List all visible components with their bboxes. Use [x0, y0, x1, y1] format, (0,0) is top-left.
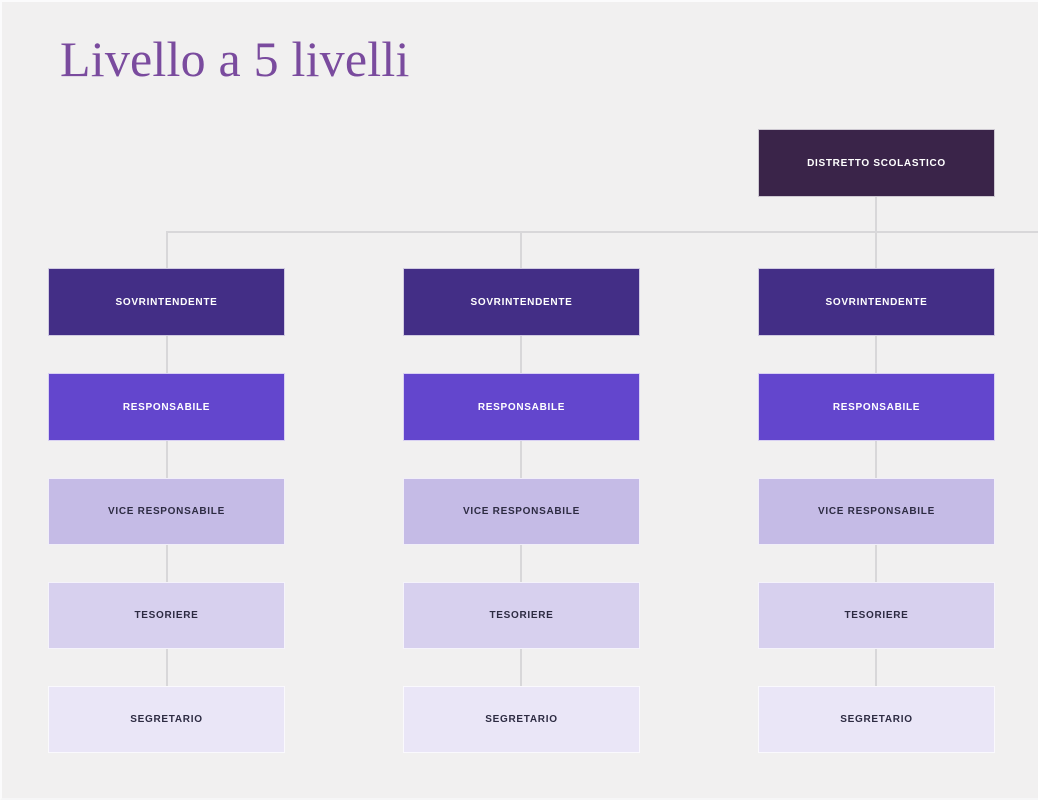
page-title: Livello a 5 livelli [60, 29, 410, 89]
connector-link-b2-l4-l5 [520, 649, 522, 686]
connector-link-b3-l1-l2 [875, 336, 877, 373]
connector-link-b3-l2-l3 [875, 441, 877, 478]
connector-link-b1-l4-l5 [166, 649, 168, 686]
org-node-root[interactable]: DISTRETTO SCOLASTICO [758, 129, 995, 197]
slide-canvas: Livello a 5 livelli DISTRETTO SCOLASTICO… [0, 0, 1038, 800]
connector-link-b3-l3-l4 [875, 545, 877, 582]
org-node-b1-tesoriere[interactable]: TESORIERE [48, 582, 285, 649]
connector-link-b1-l2-l3 [166, 441, 168, 478]
org-node-b3-responsabile[interactable]: RESPONSABILE [758, 373, 995, 441]
connector-drop-branch-3 [875, 231, 877, 268]
connector-link-b2-l3-l4 [520, 545, 522, 582]
org-node-b1-segretario[interactable]: SEGRETARIO [48, 686, 285, 753]
connector-horizontal-bus [166, 231, 1038, 233]
connector-link-b2-l1-l2 [520, 336, 522, 373]
connector-drop-branch-1 [166, 231, 168, 268]
org-node-b2-tesoriere[interactable]: TESORIERE [403, 582, 640, 649]
org-node-b2-vice-responsabile[interactable]: VICE RESPONSABILE [403, 478, 640, 545]
org-node-b2-responsabile[interactable]: RESPONSABILE [403, 373, 640, 441]
org-node-b3-tesoriere[interactable]: TESORIERE [758, 582, 995, 649]
org-node-b3-segretario[interactable]: SEGRETARIO [758, 686, 995, 753]
connector-root-stem [875, 197, 877, 232]
org-node-b2-sovrintendente[interactable]: SOVRINTENDENTE [403, 268, 640, 336]
connector-link-b3-l4-l5 [875, 649, 877, 686]
connector-link-b2-l2-l3 [520, 441, 522, 478]
connector-link-b1-l1-l2 [166, 336, 168, 373]
connector-link-b1-l3-l4 [166, 545, 168, 582]
org-node-b1-vice-responsabile[interactable]: VICE RESPONSABILE [48, 478, 285, 545]
org-node-b1-sovrintendente[interactable]: SOVRINTENDENTE [48, 268, 285, 336]
org-node-b3-vice-responsabile[interactable]: VICE RESPONSABILE [758, 478, 995, 545]
org-node-b1-responsabile[interactable]: RESPONSABILE [48, 373, 285, 441]
connector-drop-branch-2 [520, 231, 522, 268]
org-node-b3-sovrintendente[interactable]: SOVRINTENDENTE [758, 268, 995, 336]
org-node-b2-segretario[interactable]: SEGRETARIO [403, 686, 640, 753]
